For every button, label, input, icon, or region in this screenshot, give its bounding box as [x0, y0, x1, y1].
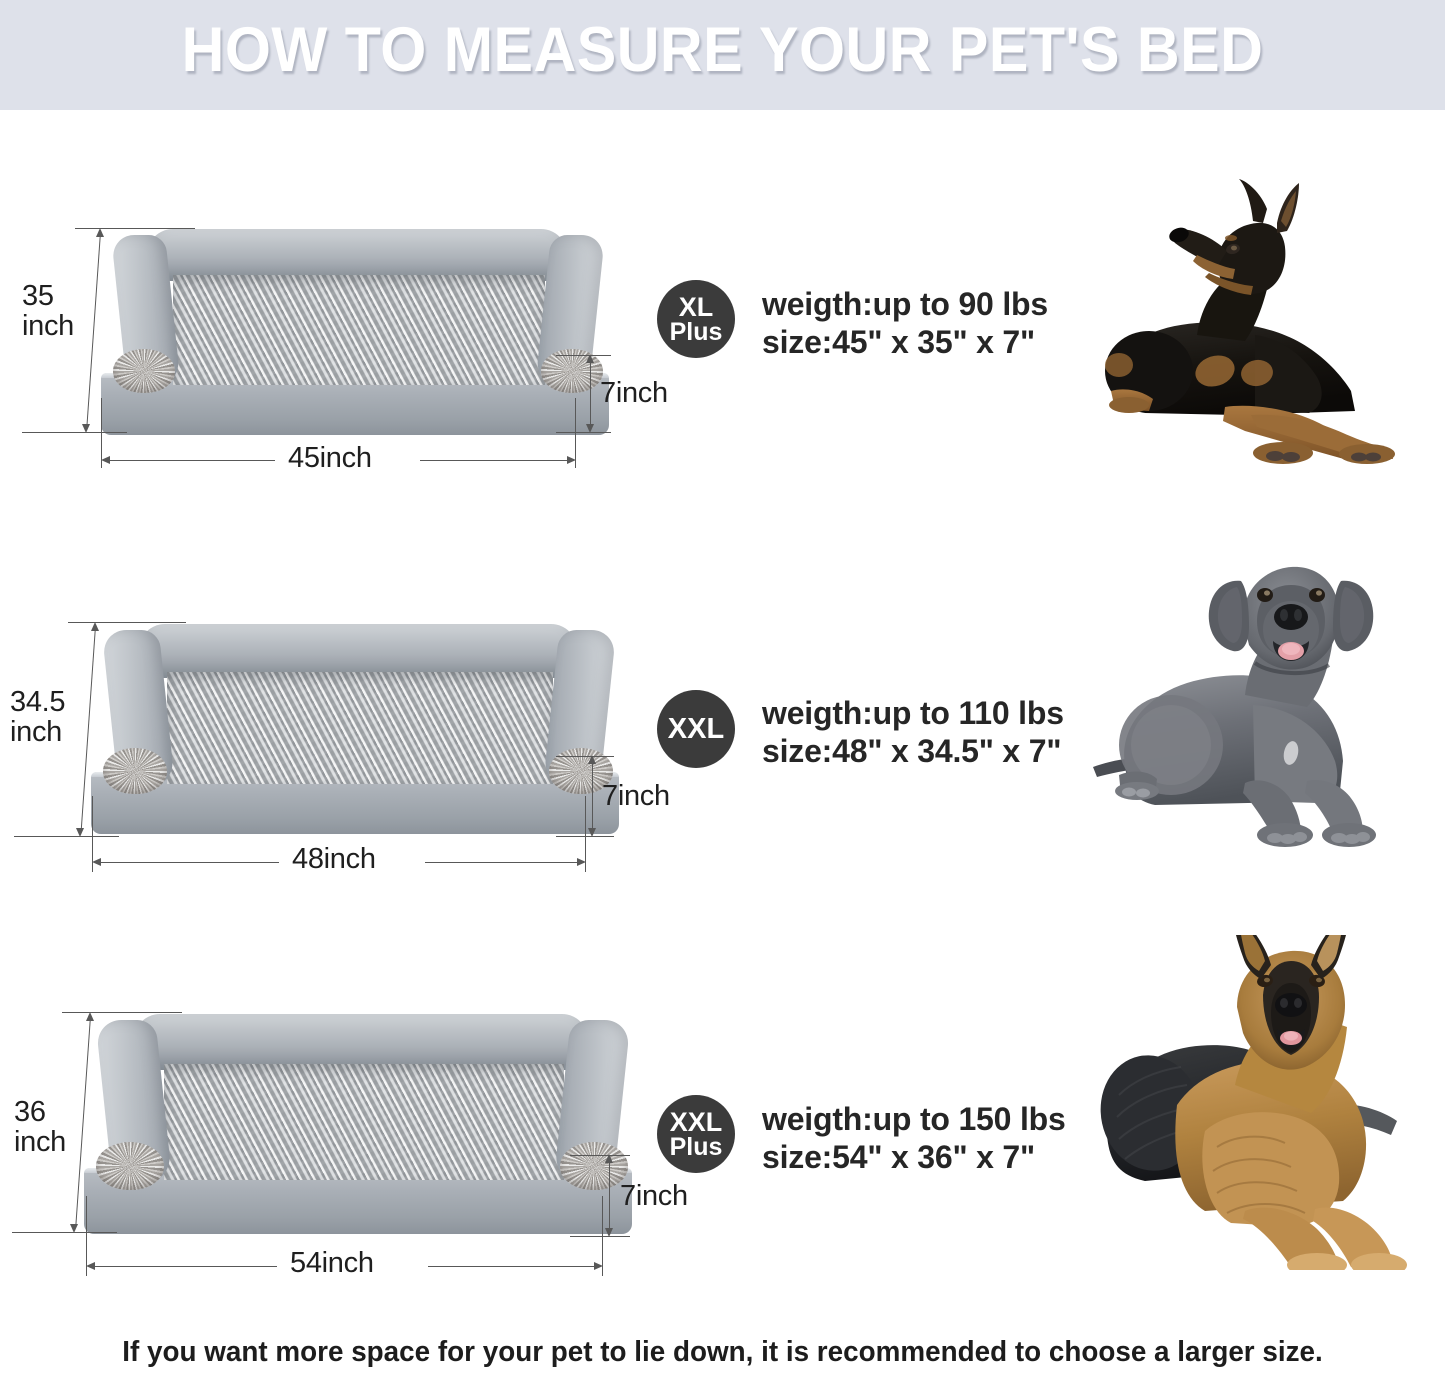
dimension-height-label: 7inch — [600, 379, 668, 409]
badge-line-2: Plus — [670, 1135, 723, 1160]
spec-size-xxl: size:48" x 34.5" x 7" — [762, 732, 1061, 771]
size-badge-xxl-plus: XXL Plus — [657, 1095, 735, 1173]
dog-photo-doberman-pinscher — [1105, 175, 1435, 465]
bed-left-plush-cap — [113, 349, 175, 393]
spec-size-xl-plus: size:45" x 35" x 7" — [762, 323, 1035, 362]
bed-back-bolster — [134, 1014, 588, 1070]
dog-photo-great-dane — [1085, 555, 1435, 855]
page-title: HOW TO MEASURE YOUR PET'S BED — [43, 14, 1401, 86]
bed-back-bolster — [139, 624, 577, 678]
dimension-width-label: 54inch — [290, 1249, 374, 1279]
dog-photo-german-shepherd — [1085, 935, 1435, 1270]
footer-note: If you want more space for your pet to l… — [29, 1336, 1416, 1369]
bed-inner-cushion — [167, 672, 553, 784]
spec-weight-xxl: weigth:up to 110 lbs — [762, 694, 1064, 733]
badge-line-2: Plus — [670, 320, 723, 345]
badge-line-1: XXL — [668, 715, 724, 743]
bed-inner-cushion — [164, 1064, 564, 1180]
bed-illustration-xxl-plus — [78, 1010, 638, 1240]
spec-weight-xl-plus: weigth:up to 90 lbs — [762, 285, 1048, 324]
spec-size-xxl-plus: size:54" x 36" x 7" — [762, 1138, 1035, 1177]
badge-line-1: XL — [679, 294, 714, 320]
bed-inner-cushion — [173, 275, 545, 385]
spec-weight-xxl-plus: weigth:up to 150 lbs — [762, 1100, 1066, 1139]
dimension-depth-label: 34.5 inch — [10, 688, 96, 747]
bed-right-plush-cap — [560, 1142, 628, 1190]
dimension-height-label: 7inch — [602, 782, 670, 812]
badge-line-1: XXL — [670, 1109, 723, 1135]
dimension-width-label: 48inch — [292, 845, 376, 875]
dimension-width-label: 45inch — [288, 444, 372, 474]
bed-illustration-xxl — [85, 620, 625, 840]
dimension-depth-label: 35 inch — [22, 282, 92, 341]
size-badge-xl-plus: XL Plus — [657, 280, 735, 358]
size-badge-xxl: XXL — [657, 690, 735, 768]
dimension-height-label: 7inch — [620, 1182, 688, 1212]
bed-back-bolster — [147, 229, 567, 281]
bed-left-plush-cap — [96, 1142, 164, 1190]
bed-left-plush-cap — [103, 748, 167, 794]
dimension-depth-label: 36 inch — [14, 1098, 86, 1157]
bed-illustration-xl-plus — [95, 225, 615, 440]
